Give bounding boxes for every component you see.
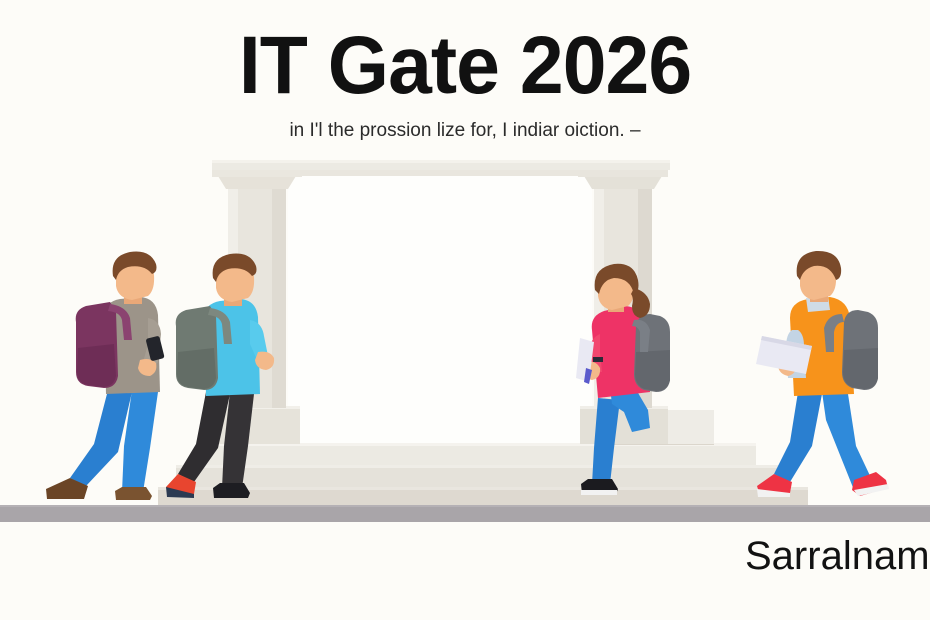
f1-front-shoe — [115, 487, 152, 500]
f4-backpack-pocket — [843, 348, 878, 389]
step-middle — [176, 465, 788, 487]
f2-front-shoe — [213, 483, 250, 498]
gate-steps — [158, 443, 808, 506]
step-middle-edge — [176, 465, 788, 468]
right-tread-2 — [612, 444, 714, 445]
f3-backpack-pocket — [635, 350, 670, 391]
ground-strip-top-edge — [0, 505, 930, 507]
ground-strip — [0, 505, 930, 522]
f3-wristband — [593, 357, 603, 362]
step-top — [196, 443, 756, 465]
left-column-shaft-shade — [272, 188, 286, 408]
left-column-capital — [218, 176, 296, 189]
gate-lintel-under — [300, 170, 580, 176]
gate-opening — [288, 172, 592, 444]
f2-backpack-pocket — [177, 348, 216, 389]
f3-back-sole — [581, 490, 617, 495]
right-column-capital — [584, 176, 662, 189]
step-bottom-edge — [158, 487, 808, 490]
f1-backpack-pocket — [77, 344, 116, 387]
gate-lintel-top — [212, 160, 670, 163]
poster-canvas: IT Gate 2026 in I'l the prossion lize fo… — [0, 0, 930, 620]
poster-illustration — [0, 0, 930, 620]
